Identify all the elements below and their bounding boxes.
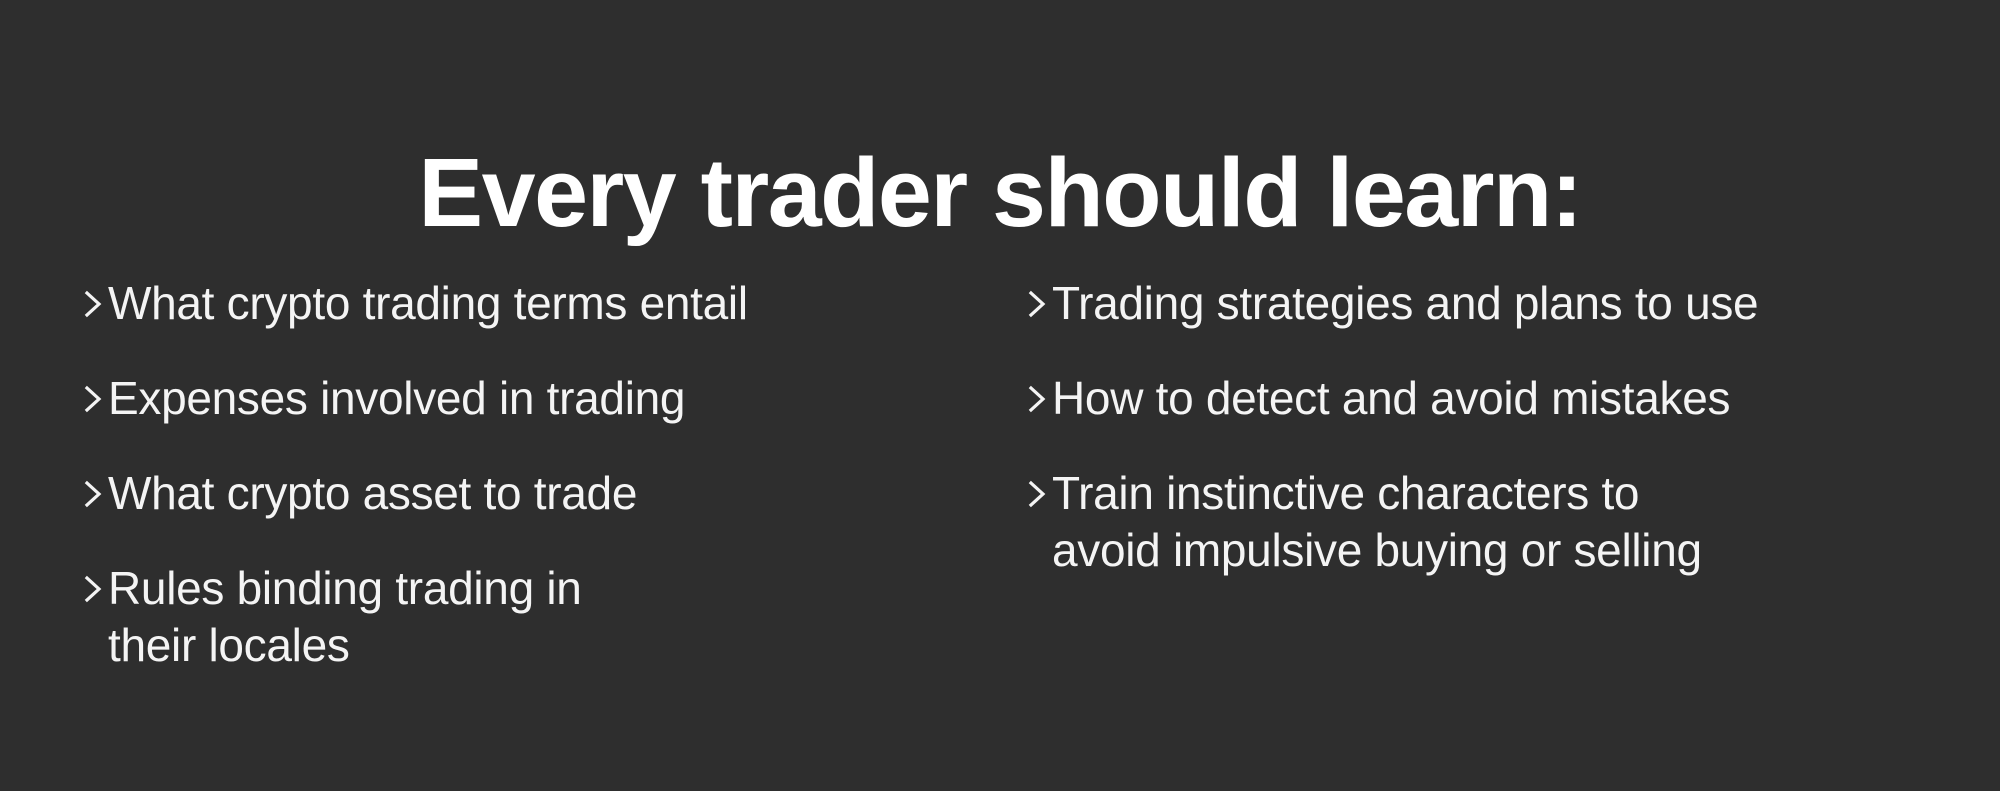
chevron-right-icon (1022, 276, 1052, 332)
list-item-label: What crypto asset to trade (108, 465, 637, 522)
list-item: How to detect and avoid mistakes (1022, 370, 1902, 427)
list-item: Train instinctive characters to avoid im… (1022, 465, 1902, 579)
list-item-label: What crypto trading terms entail (108, 275, 748, 332)
chevron-right-icon (78, 561, 108, 617)
list-item: What crypto asset to trade (78, 465, 938, 522)
list-item: Expenses involved in trading (78, 370, 938, 427)
left-bullet-column: What crypto trading terms entail Expense… (78, 275, 938, 712)
page-title: Every trader should learn: (0, 143, 2000, 243)
list-item-label: Trading strategies and plans to use (1052, 275, 1758, 332)
right-bullet-column: Trading strategies and plans to use How … (1022, 275, 1902, 617)
list-item-label: How to detect and avoid mistakes (1052, 370, 1730, 427)
list-item-label: Train instinctive characters to avoid im… (1052, 465, 1722, 579)
chevron-right-icon (1022, 466, 1052, 522)
chevron-right-icon (1022, 371, 1052, 427)
bullet-columns: What crypto trading terms entail Expense… (0, 275, 2000, 775)
chevron-right-icon (78, 466, 108, 522)
chevron-right-icon (78, 371, 108, 427)
list-item: What crypto trading terms entail (78, 275, 938, 332)
list-item-label: Rules binding trading in their locales (108, 560, 668, 674)
presentation-slide: Every trader should learn: What crypto t… (0, 0, 2000, 791)
list-item: Trading strategies and plans to use (1022, 275, 1902, 332)
list-item: Rules binding trading in their locales (78, 560, 938, 674)
list-item-label: Expenses involved in trading (108, 370, 685, 427)
chevron-right-icon (78, 276, 108, 332)
